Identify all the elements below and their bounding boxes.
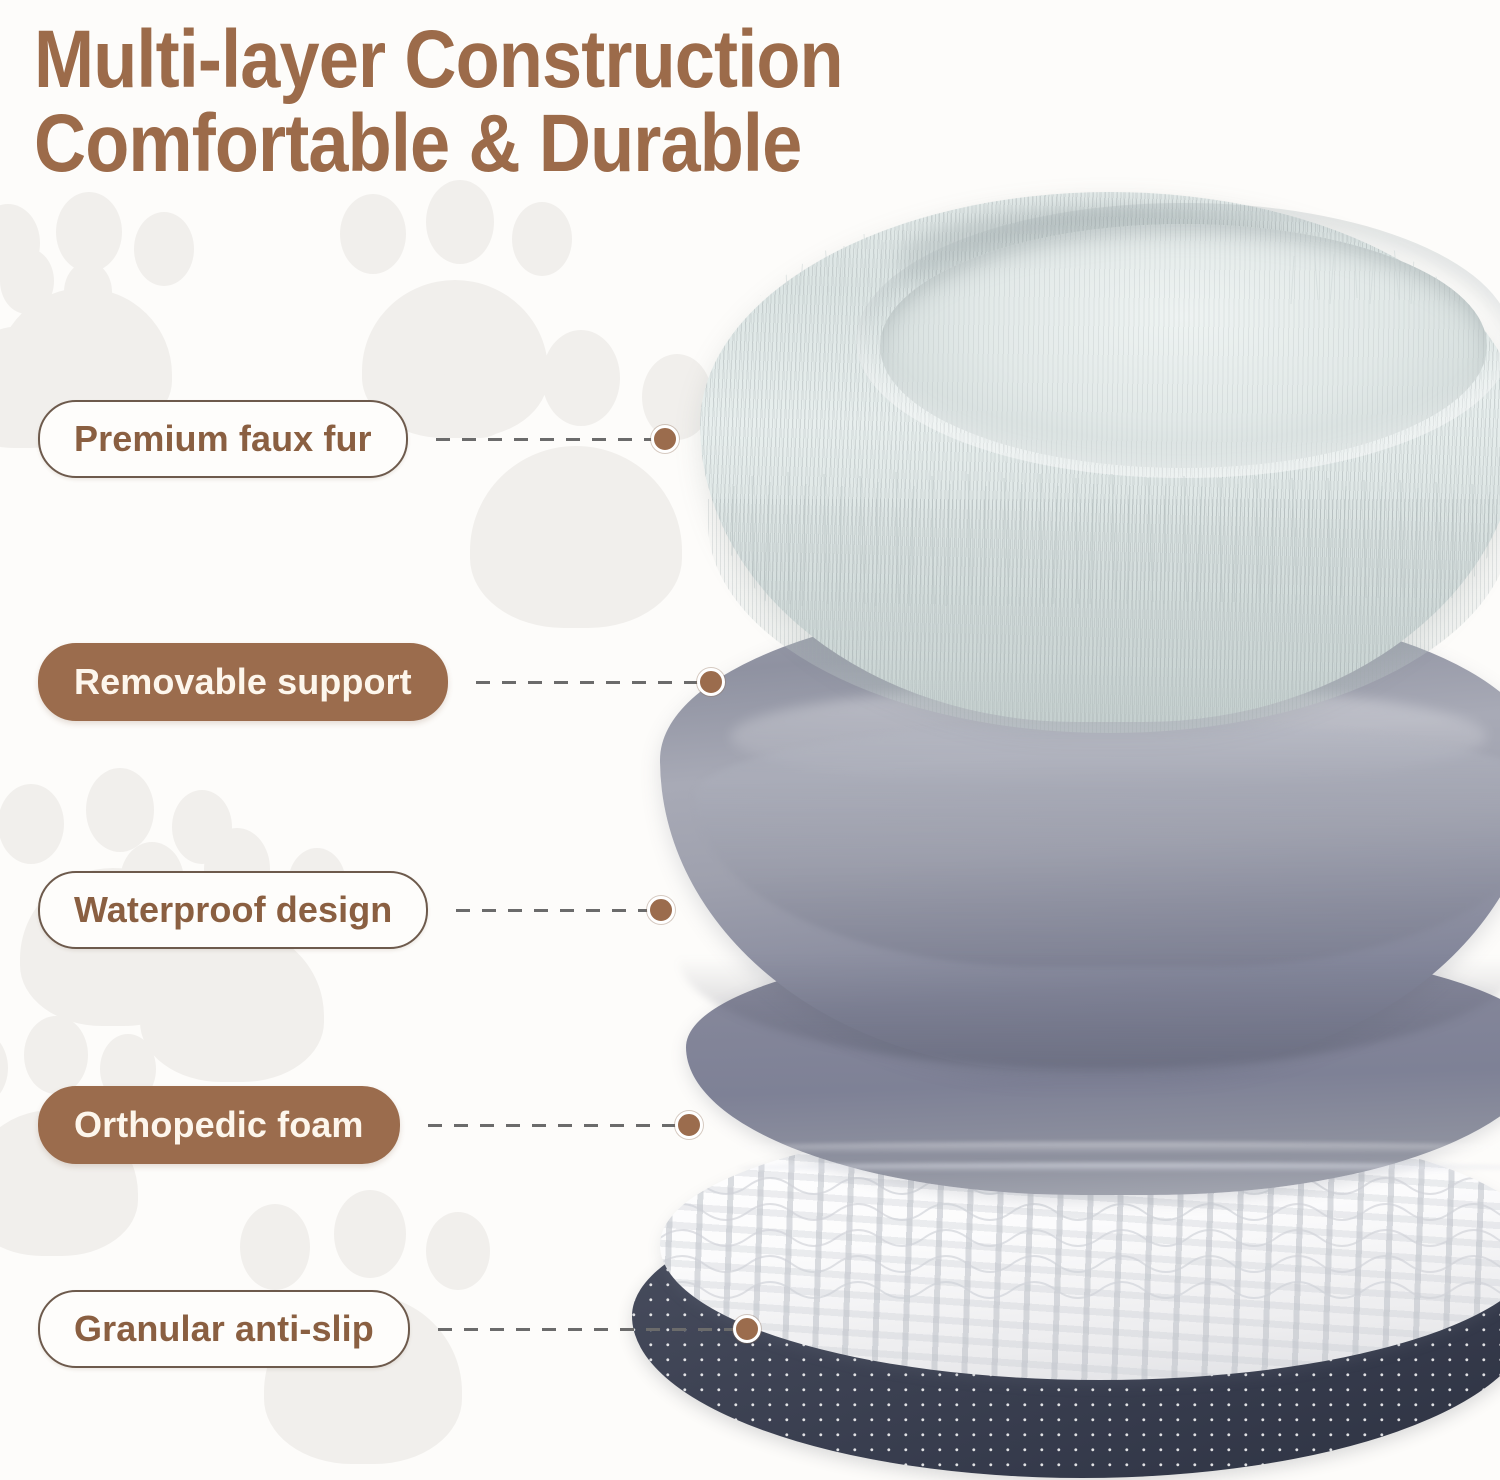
leader-line-removable-support (476, 681, 714, 684)
page-title-line-1: Multi-layer Construction (34, 14, 843, 105)
callout-label-premium-faux-fur[interactable]: Premium faux fur (38, 400, 408, 478)
paw-print-icon (430, 330, 720, 640)
layer-marker-support-dot[interactable] (697, 668, 725, 696)
leader-line-waterproof-design (456, 909, 664, 912)
callout-row-premium-faux-fur: Premium faux fur (38, 400, 668, 478)
layer-marker-fur-dot[interactable] (651, 425, 679, 453)
fur-inner-lip (856, 203, 1500, 479)
product-layer-faux-fur (700, 192, 1500, 722)
callout-label-orthopedic-foam[interactable]: Orthopedic foam (38, 1086, 400, 1164)
callout-row-removable-support: Removable support (38, 643, 714, 721)
liner-seam (712, 1142, 1500, 1154)
leader-line-orthopedic-foam (428, 1124, 692, 1127)
layer-marker-antislip-dot[interactable] (733, 1315, 761, 1343)
layer-marker-waterproof-dot[interactable] (647, 896, 675, 924)
leader-line-premium-faux-fur (436, 438, 668, 441)
callout-label-removable-support[interactable]: Removable support (38, 643, 448, 721)
callout-label-granular-anti-slip[interactable]: Granular anti-slip (38, 1290, 410, 1368)
page-title: Multi-layer Construction Comfortable & D… (34, 18, 843, 185)
layer-marker-foam-dot[interactable] (675, 1111, 703, 1139)
leader-line-granular-anti-slip (438, 1328, 750, 1331)
callout-row-granular-anti-slip: Granular anti-slip (38, 1290, 750, 1368)
callout-label-waterproof-design[interactable]: Waterproof design (38, 871, 428, 949)
support-face (695, 722, 1500, 966)
callout-row-orthopedic-foam: Orthopedic foam (38, 1086, 692, 1164)
callout-row-waterproof-design: Waterproof design (38, 871, 664, 949)
page-title-line-2: Comfortable & Durable (34, 102, 843, 186)
infographic-canvas: Multi-layer Construction Comfortable & D… (0, 0, 1500, 1480)
